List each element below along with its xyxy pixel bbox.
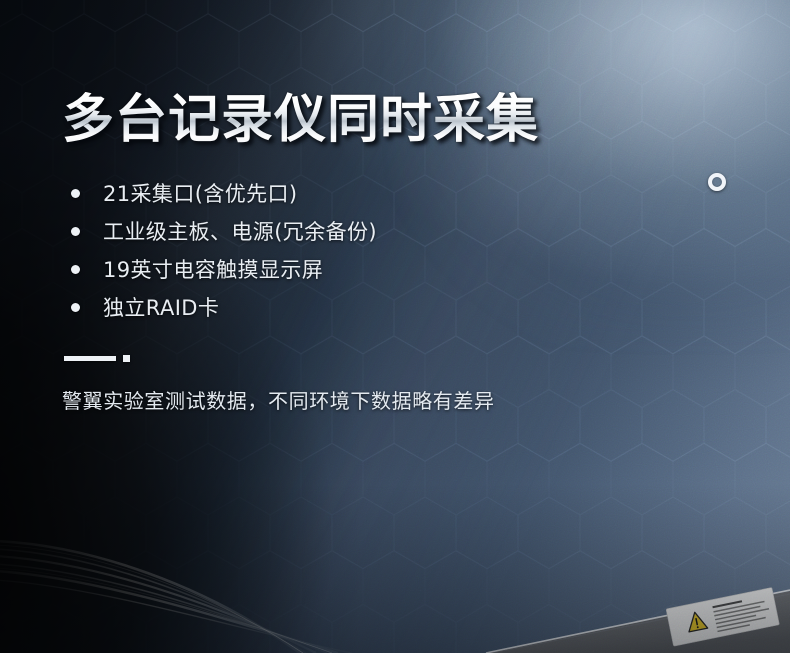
list-item: 21采集口(含优先口): [62, 174, 722, 212]
bullet-dot-icon: [71, 189, 80, 198]
disclaimer-note: 警翼实验室测试数据，不同环境下数据略有差异: [62, 385, 722, 414]
feature-label: 19英寸电容触摸显示屏: [103, 254, 323, 284]
divider-square: [123, 355, 130, 362]
list-item: 工业级主板、电源(冗余备份): [62, 212, 722, 250]
feature-label: 工业级主板、电源(冗余备份): [103, 216, 377, 246]
hero-banner: 多台记录仪同时采集 21采集口(含优先口) 工业级主板、电源(冗余备份) 19英…: [0, 0, 790, 653]
page-title: 多台记录仪同时采集: [62, 92, 722, 148]
list-item: 19英寸电容触摸显示屏: [62, 250, 722, 288]
divider: [64, 355, 722, 362]
divider-bar: [64, 356, 116, 361]
bullet-dot-icon: [71, 227, 80, 236]
feature-label: 21采集口(含优先口): [103, 178, 298, 208]
hero-content: 多台记录仪同时采集 21采集口(含优先口) 工业级主板、电源(冗余备份) 19英…: [62, 92, 722, 414]
list-item: 独立RAID卡: [62, 288, 722, 326]
feature-list: 21采集口(含优先口) 工业级主板、电源(冗余备份) 19英寸电容触摸显示屏 独…: [62, 174, 722, 326]
bullet-dot-icon: [71, 303, 80, 312]
bullet-dot-icon: [71, 265, 80, 274]
feature-label: 独立RAID卡: [103, 292, 219, 322]
